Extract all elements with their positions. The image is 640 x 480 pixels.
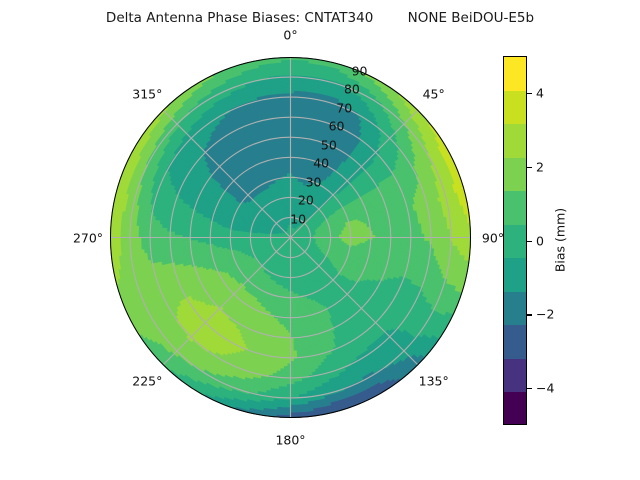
- colorbar: −4−2024: [503, 56, 527, 425]
- colorbar-axis-label: Bias (mm): [553, 208, 568, 272]
- azimuth-label-135: 135°: [419, 373, 449, 388]
- azimuth-label-0: 0°: [283, 28, 297, 43]
- colorbar-band: [504, 158, 526, 192]
- radial-label-80: 80: [344, 82, 360, 97]
- colorbar-tick-label: −2: [536, 307, 554, 322]
- colorbar-band: [504, 91, 526, 125]
- radial-label-70: 70: [336, 100, 352, 115]
- radial-label-40: 40: [313, 156, 329, 171]
- polar-data-region: [110, 57, 471, 418]
- radial-label-30: 30: [306, 174, 322, 189]
- azimuth-label-225: 225°: [132, 373, 162, 388]
- colorbar-tick-label: 0: [536, 233, 544, 248]
- colorbar-tick-mark: [527, 388, 532, 389]
- radial-label-50: 50: [321, 137, 337, 152]
- colorbar-band: [504, 225, 526, 259]
- azimuth-label-270: 270°: [73, 230, 103, 245]
- radial-label-90: 90: [352, 63, 368, 78]
- colorbar-band: [504, 325, 526, 359]
- colorbar-gradient: [503, 56, 527, 425]
- page-title: Delta Antenna Phase Biases: CNTAT340 NON…: [0, 10, 640, 26]
- radial-label-20: 20: [298, 193, 314, 208]
- colorbar-tick-mark: [527, 167, 532, 168]
- colorbar-band: [504, 258, 526, 292]
- azimuth-label-180: 180°: [275, 433, 305, 448]
- polar-contour-plot: [110, 57, 471, 418]
- colorbar-band: [504, 392, 526, 425]
- polar-axes: [110, 57, 471, 418]
- radial-label-10: 10: [290, 211, 306, 226]
- colorbar-band: [504, 292, 526, 326]
- colorbar-band: [504, 124, 526, 158]
- colorbar-tick-mark: [527, 314, 532, 315]
- colorbar-band: [504, 57, 526, 91]
- colorbar-tick-label: 4: [536, 85, 544, 100]
- colorbar-tick-mark: [527, 241, 532, 242]
- colorbar-band: [504, 359, 526, 393]
- azimuth-label-90: 90°: [482, 230, 504, 245]
- figure-canvas: Delta Antenna Phase Biases: CNTAT340 NON…: [0, 0, 640, 480]
- colorbar-band: [504, 191, 526, 225]
- colorbar-tick-mark: [527, 93, 532, 94]
- azimuth-label-45: 45°: [423, 87, 445, 102]
- colorbar-tick-label: −4: [536, 381, 554, 396]
- colorbar-tick-label: 2: [536, 159, 544, 174]
- radial-label-60: 60: [329, 119, 345, 134]
- azimuth-label-315: 315°: [132, 87, 162, 102]
